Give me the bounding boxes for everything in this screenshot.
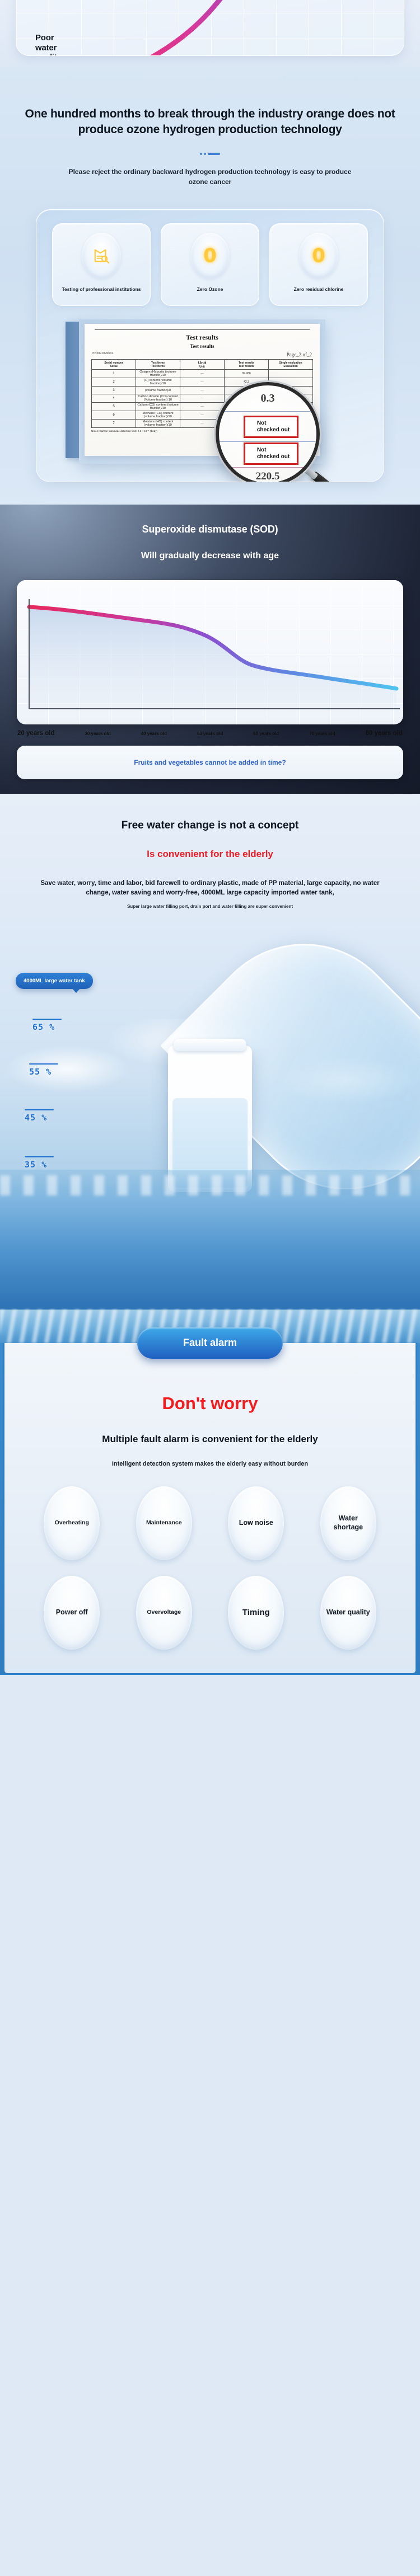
poor-water-quality-annotation: Poor water quality [35,33,62,56]
not-checked-out-box-1: Not checked out [244,416,298,438]
fault-item-label: Overvoltage [142,1609,185,1616]
feature-orb [82,233,121,279]
feature-testing-institutions: Testing of professional institutions [52,223,151,306]
gauge-mark-65: 65 % [32,1022,55,1032]
sod-footer-question: Fruits and vegetables cannot be added in… [134,759,286,766]
ozone-subhead: Please reject the ordinary backward hydr… [0,167,420,187]
water-quality-chart-card: Poor water quality [16,0,404,56]
fault-item-overheating[interactable]: Overheating [44,1486,100,1560]
th-test-items: Test Items Test items [136,360,180,370]
document-title: Test results [91,333,313,342]
feature-row: Testing of professional institutions 0 Z… [52,223,368,306]
fault-item-low-noise[interactable]: Low noise [228,1486,284,1560]
dont-worry-heading: Don't worry [4,1393,416,1414]
axis-tick: 40 years old [141,731,167,736]
document-top-rule [95,329,310,330]
sod-subtitle: Will gradually decrease with age [0,551,420,561]
table-row: 1 Oxygen (H) purity (volume fraction)/10… [92,370,313,378]
fault-item-water-quality[interactable]: Water quality [320,1576,376,1650]
cell-serial: 6 [92,411,136,420]
divider-dot-2 [204,153,206,155]
cell-item: Carbon (CO) content (volume fraction)/10 [136,403,180,411]
magnified-rule [219,411,316,412]
tank-capacity-tag: 4000ML large water tank [16,973,93,989]
magnifier-lens: 0.3 Not checked out Not checked out [216,382,320,482]
feature-orb: 0 [190,233,230,279]
fault-alarm-panel: Fault alarm Don't worry Multiple fault a… [3,1343,417,1675]
box1-line2: checked out [257,427,290,434]
th-evaluation: Single evaluation Evaluation [269,360,313,370]
sod-chart-card [17,580,403,724]
cell-unit: — [180,403,225,411]
box2-line2: checked out [257,454,290,460]
zero-icon: 0 [312,246,325,265]
document-meta: FB2021020601 Page_2 of_2 [92,352,312,357]
th-bottom: Unit [181,365,223,369]
annotation-line-3: quality [35,53,62,56]
gauge-mark-45: 45 % [25,1113,47,1123]
axis-tick: 70 years old [309,731,335,736]
divider-bar [208,153,220,155]
water-quality-curve [16,0,404,56]
fault-alarm-grid: Overheating Maintenance Low noise Water … [31,1486,389,1673]
product-detail-page: Poor water quality One hundred months to… [0,0,420,1675]
fault-alarm-tab[interactable]: Fault alarm [137,1327,283,1359]
th-unit: Unit Unit [180,360,225,370]
free-water-caption: Super large water filling port, drain po… [0,904,420,909]
fault-item-label: Low noise [235,1519,278,1528]
certificate-icon [93,248,110,263]
cell-unit: — [180,378,225,387]
gauge-mark-55: 55 % [29,1067,52,1077]
zero-icon: 0 [203,246,217,265]
magnified-rule [219,441,316,442]
test-report-document: Test results Test results FB2021020601 P… [66,319,346,469]
th-top: Unit [181,360,223,365]
axis-tick: 80 years old [365,730,402,737]
cell-serial: 7 [92,420,136,428]
annotation-line-2: water [35,43,62,53]
cell-result: 99.968 [225,370,269,378]
certification-card: Testing of professional institutions 0 Z… [36,209,384,482]
divider-dots [0,153,420,155]
feature-zero-ozone: 0 Zero Ozone [161,223,259,306]
water-tank-hero: 4000ML large water tank 65 % 55 % 45 % 3… [0,918,420,1310]
section-water-quality-chart: Poor water quality [0,0,420,67]
feature-zero-residual-chlorine: 0 Zero residual chlorine [269,223,368,306]
cell-evaluation [269,370,313,378]
document-subtitle: Test results [91,343,313,349]
cell-unit: — [180,394,225,403]
cell-item: (volume fraction)/0 [136,387,180,394]
axis-tick: 50 years old [197,731,223,736]
cell-serial: 1 [92,370,136,378]
th-bottom: Test items [137,365,179,368]
sod-title: Superoxide dismutase (SOD) [0,524,420,535]
fault-item-label: Timing [238,1608,274,1618]
fault-item-timing[interactable]: Timing [228,1576,284,1650]
free-water-headline: Free water change is not a concept [0,820,420,832]
cell-item: Oxygen (H) purity (volume fraction)/10 [136,370,180,378]
box2-line1: Not [257,447,290,454]
section-sod: Superoxide dismutase (SOD) Will graduall… [0,505,420,794]
th-bottom: Test results [226,365,267,368]
sod-footer-banner: Fruits and vegetables cannot be added in… [17,746,403,779]
cell-serial: 2 [92,378,136,387]
th-serial: Serial number Serial [92,360,136,370]
fault-item-label: Overheating [50,1519,94,1527]
th-results: Test results Test results [225,360,269,370]
free-water-highlight: Is convenient for the elderly [0,849,420,860]
fault-item-label: Maintenance [142,1519,186,1527]
fault-item-maintenance[interactable]: Maintenance [136,1486,192,1560]
axis-tick: 60 years old [253,731,279,736]
not-checked-out-box-2: Not checked out [244,442,298,465]
box1-line1: Not [257,420,290,427]
fault-item-label: Water shortage [320,1514,376,1532]
cell-unit: — [180,387,225,394]
ozone-headline: One hundred months to break through the … [0,106,420,137]
section-free-water-change: Free water change is not a concept Is co… [0,794,420,1310]
report-number: FB2021020601 [92,352,113,357]
fault-item-label: Power off [52,1608,92,1617]
table-header-row: Serial number Serial Test Items Test ite… [92,360,313,370]
section-ozone-technology: One hundred months to break through the … [0,67,420,505]
fault-subline: Intelligent detection system makes the e… [4,1461,416,1467]
divider-dot-1 [200,153,202,155]
fault-headline: Multiple fault alarm is convenient for t… [4,1434,416,1445]
feature-label: Zero Ozone [194,286,227,293]
sod-decline-chart [17,580,403,724]
gauge-mark-35: 35 % [25,1160,47,1170]
cell-item: Methane (CH) content (volume fraction)/1… [136,411,180,420]
sod-axis-labels: 20 years old 30 years old 40 years old 5… [14,730,406,737]
tank-cap [174,1039,246,1051]
free-water-body: Save water, worry, time and labor, bid f… [0,879,420,897]
magnified-rule [219,467,316,468]
page-number: Page_2 of_2 [287,352,312,357]
fault-item-power-off[interactable]: Power off [44,1576,100,1650]
water-surface [0,1170,420,1310]
feature-orb: 0 [299,233,338,279]
cell-unit: — [180,370,225,378]
th-bottom: Serial [93,365,134,368]
th-bottom: Evaluation [270,365,311,368]
fault-item-label: Water quality [322,1608,375,1617]
section-fault-alarm: Fault alarm Don't worry Multiple fault a… [0,1310,420,1675]
feature-label: Testing of professional institutions [58,286,144,293]
magnified-value-bottom: 220.5 [219,470,316,482]
cell-serial: 4 [92,394,136,403]
axis-tick: 20 years old [17,730,54,737]
fault-item-water-shortage[interactable]: Water shortage [320,1486,376,1560]
cell-item: Carbon dioxide (CO) content (Volume frac… [136,394,180,403]
magnified-value-top: 0.3 [219,392,316,405]
cell-serial: 5 [92,403,136,411]
annotation-line-1: Poor [35,33,62,43]
cell-item: Moisture (HO) content (volume fraction)/… [136,420,180,428]
axis-tick: 30 years old [85,731,110,736]
cell-item: (R) content (volume fraction)/10 [136,378,180,387]
fault-item-overvoltage[interactable]: Overvoltage [136,1576,192,1650]
cell-serial: 3 [92,387,136,394]
feature-label: Zero residual chlorine [291,286,347,293]
